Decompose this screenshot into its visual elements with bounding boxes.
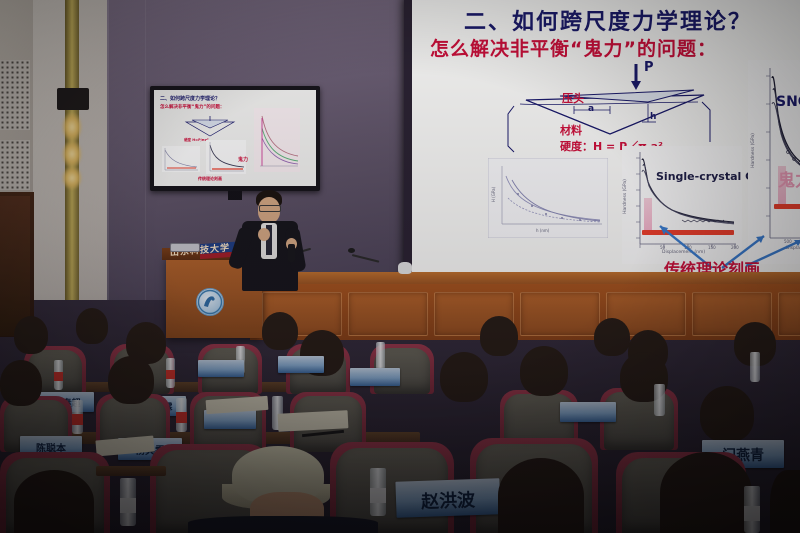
water-bottle-mid-1-label xyxy=(72,414,83,425)
chart-left-ylabel: H (GPa) xyxy=(491,187,496,202)
namecard-far-5 xyxy=(350,368,400,386)
auditorium-photo: 二、如何跨尺度力学理论？ 怎么解决非平衡“鬼力”的问题： 硬度 H=P/πa² xyxy=(0,0,800,533)
audience-head-front-right-2 xyxy=(660,452,752,533)
audience-head-mid-4 xyxy=(520,346,568,396)
indenter-diagram: 压头 P a h 材料 硬度：H = P／π a² xyxy=(498,62,718,154)
stage-panel-2 xyxy=(348,292,428,336)
speaker-glasses xyxy=(259,205,281,212)
ghost-force-pink-label: 鬼力 xyxy=(778,166,800,191)
audience-head-far-2 xyxy=(76,308,108,344)
audience-head-front-right-3 xyxy=(770,470,800,533)
wall-light-glow-2 xyxy=(62,140,82,168)
namecard-zhao-hongbo: 赵洪波 xyxy=(395,478,500,518)
material-label: 材料 xyxy=(560,122,582,138)
stage-panel-4 xyxy=(520,292,600,336)
chart-right-ylabel: Hardness (GPa) xyxy=(751,133,756,168)
water-bottle-front-1-label xyxy=(120,498,136,513)
notepad-right-1 xyxy=(278,410,349,432)
stage-table-top xyxy=(250,272,800,284)
side-monitor-chart-1 xyxy=(162,146,200,172)
chart-cu-title: Single-crystal Cu xyxy=(656,170,761,183)
water-bottle-mid-2-label xyxy=(176,412,187,423)
speaker xyxy=(228,190,318,298)
acoustic-panel-upper xyxy=(0,60,30,130)
side-monitor-title: 二、如何跨尺度力学理论？ xyxy=(160,95,220,102)
wall-backdrop-seam-2 xyxy=(145,0,146,300)
audience-head-front-right-1 xyxy=(498,458,584,533)
side-monitor-subtitle: 怎么解决非平衡“鬼力”的问题： xyxy=(160,104,224,110)
stage-panel-7 xyxy=(778,292,800,336)
contact-radius-label: a xyxy=(588,104,594,114)
audience-head-far-7 xyxy=(594,318,630,356)
audience-head-mid-6 xyxy=(700,386,754,442)
side-monitor-hardness-text: 硬度 H=P/πa² xyxy=(184,138,209,143)
chart-left-faint: h (nm) H (GPa) xyxy=(488,158,608,238)
audience-head-mid-1 xyxy=(0,360,42,406)
side-monitor-indenter-diagram xyxy=(184,116,236,138)
side-monitor-ghost-label: 鬼力 xyxy=(238,156,248,163)
water-bottle-front-2-label xyxy=(370,488,386,503)
podium-university-seal xyxy=(196,288,224,316)
load-label: P xyxy=(644,60,654,75)
projection-screen: 二、如何跨尺度力学理论？ 怎么解决非平衡“鬼力”的问题： xyxy=(412,0,800,278)
namecard-mid-4 xyxy=(560,402,616,422)
desk-row-front xyxy=(96,466,166,476)
chart-cu-ylabel: Hardness (GPa) xyxy=(623,179,628,214)
acoustic-panel-lower xyxy=(0,140,30,190)
wall-backdrop-seam xyxy=(107,0,109,300)
wall-light-fixture xyxy=(57,88,89,110)
water-bottle-far-5[interactable] xyxy=(750,352,760,382)
side-monitor-traditional-label: 传统理论刻画 xyxy=(198,176,222,182)
audience-shoulders-front-capped xyxy=(188,516,378,533)
wall-light-glow-3 xyxy=(62,166,82,190)
audience-head-mid-2 xyxy=(108,356,154,404)
speaker-left-hand xyxy=(258,228,270,241)
stage-microphone-right-head xyxy=(348,248,355,253)
snc-label: SNC xyxy=(776,94,800,110)
audience-head-far-1 xyxy=(14,316,48,354)
podium-laptop xyxy=(170,243,200,252)
laser-pointer xyxy=(288,244,295,262)
depth-label: h xyxy=(650,112,656,122)
audience-head-far-6 xyxy=(480,316,518,356)
chart-left-xlabel: h (nm) xyxy=(536,228,549,233)
water-bottle-far-4[interactable] xyxy=(376,342,385,370)
teapot-on-stage xyxy=(398,262,412,274)
side-monitor-screen: 二、如何跨尺度力学理论？ 怎么解决非平衡“鬼力”的问题： 硬度 H=P/πa² xyxy=(154,90,316,186)
namecard-zhao-hongbo-text: 赵洪波 xyxy=(396,485,501,515)
slide-subtitle: 怎么解决非平衡“鬼力”的问题： xyxy=(430,34,717,61)
audience-head-front-left xyxy=(14,470,94,533)
audience-head-mid-3 xyxy=(440,352,488,402)
wall-dark-wood-alcove xyxy=(0,196,30,336)
slide-title: 二、如何跨尺度力学理论？ xyxy=(464,4,752,36)
chart-right-reference-line xyxy=(774,204,800,209)
side-monitor-chart-3 xyxy=(254,108,300,172)
namecard-far-4 xyxy=(278,356,324,373)
namecard-far-3 xyxy=(198,360,244,377)
water-bottle-far-1-label xyxy=(54,372,63,381)
wall-light-glow-1 xyxy=(62,112,82,142)
water-bottle-front-3-label xyxy=(744,506,760,521)
water-bottle-far-2-label xyxy=(166,370,175,379)
indenter-label: 压头 xyxy=(562,90,584,106)
water-bottle-mid-4[interactable] xyxy=(654,384,665,416)
audience-head-far-4 xyxy=(262,312,298,350)
